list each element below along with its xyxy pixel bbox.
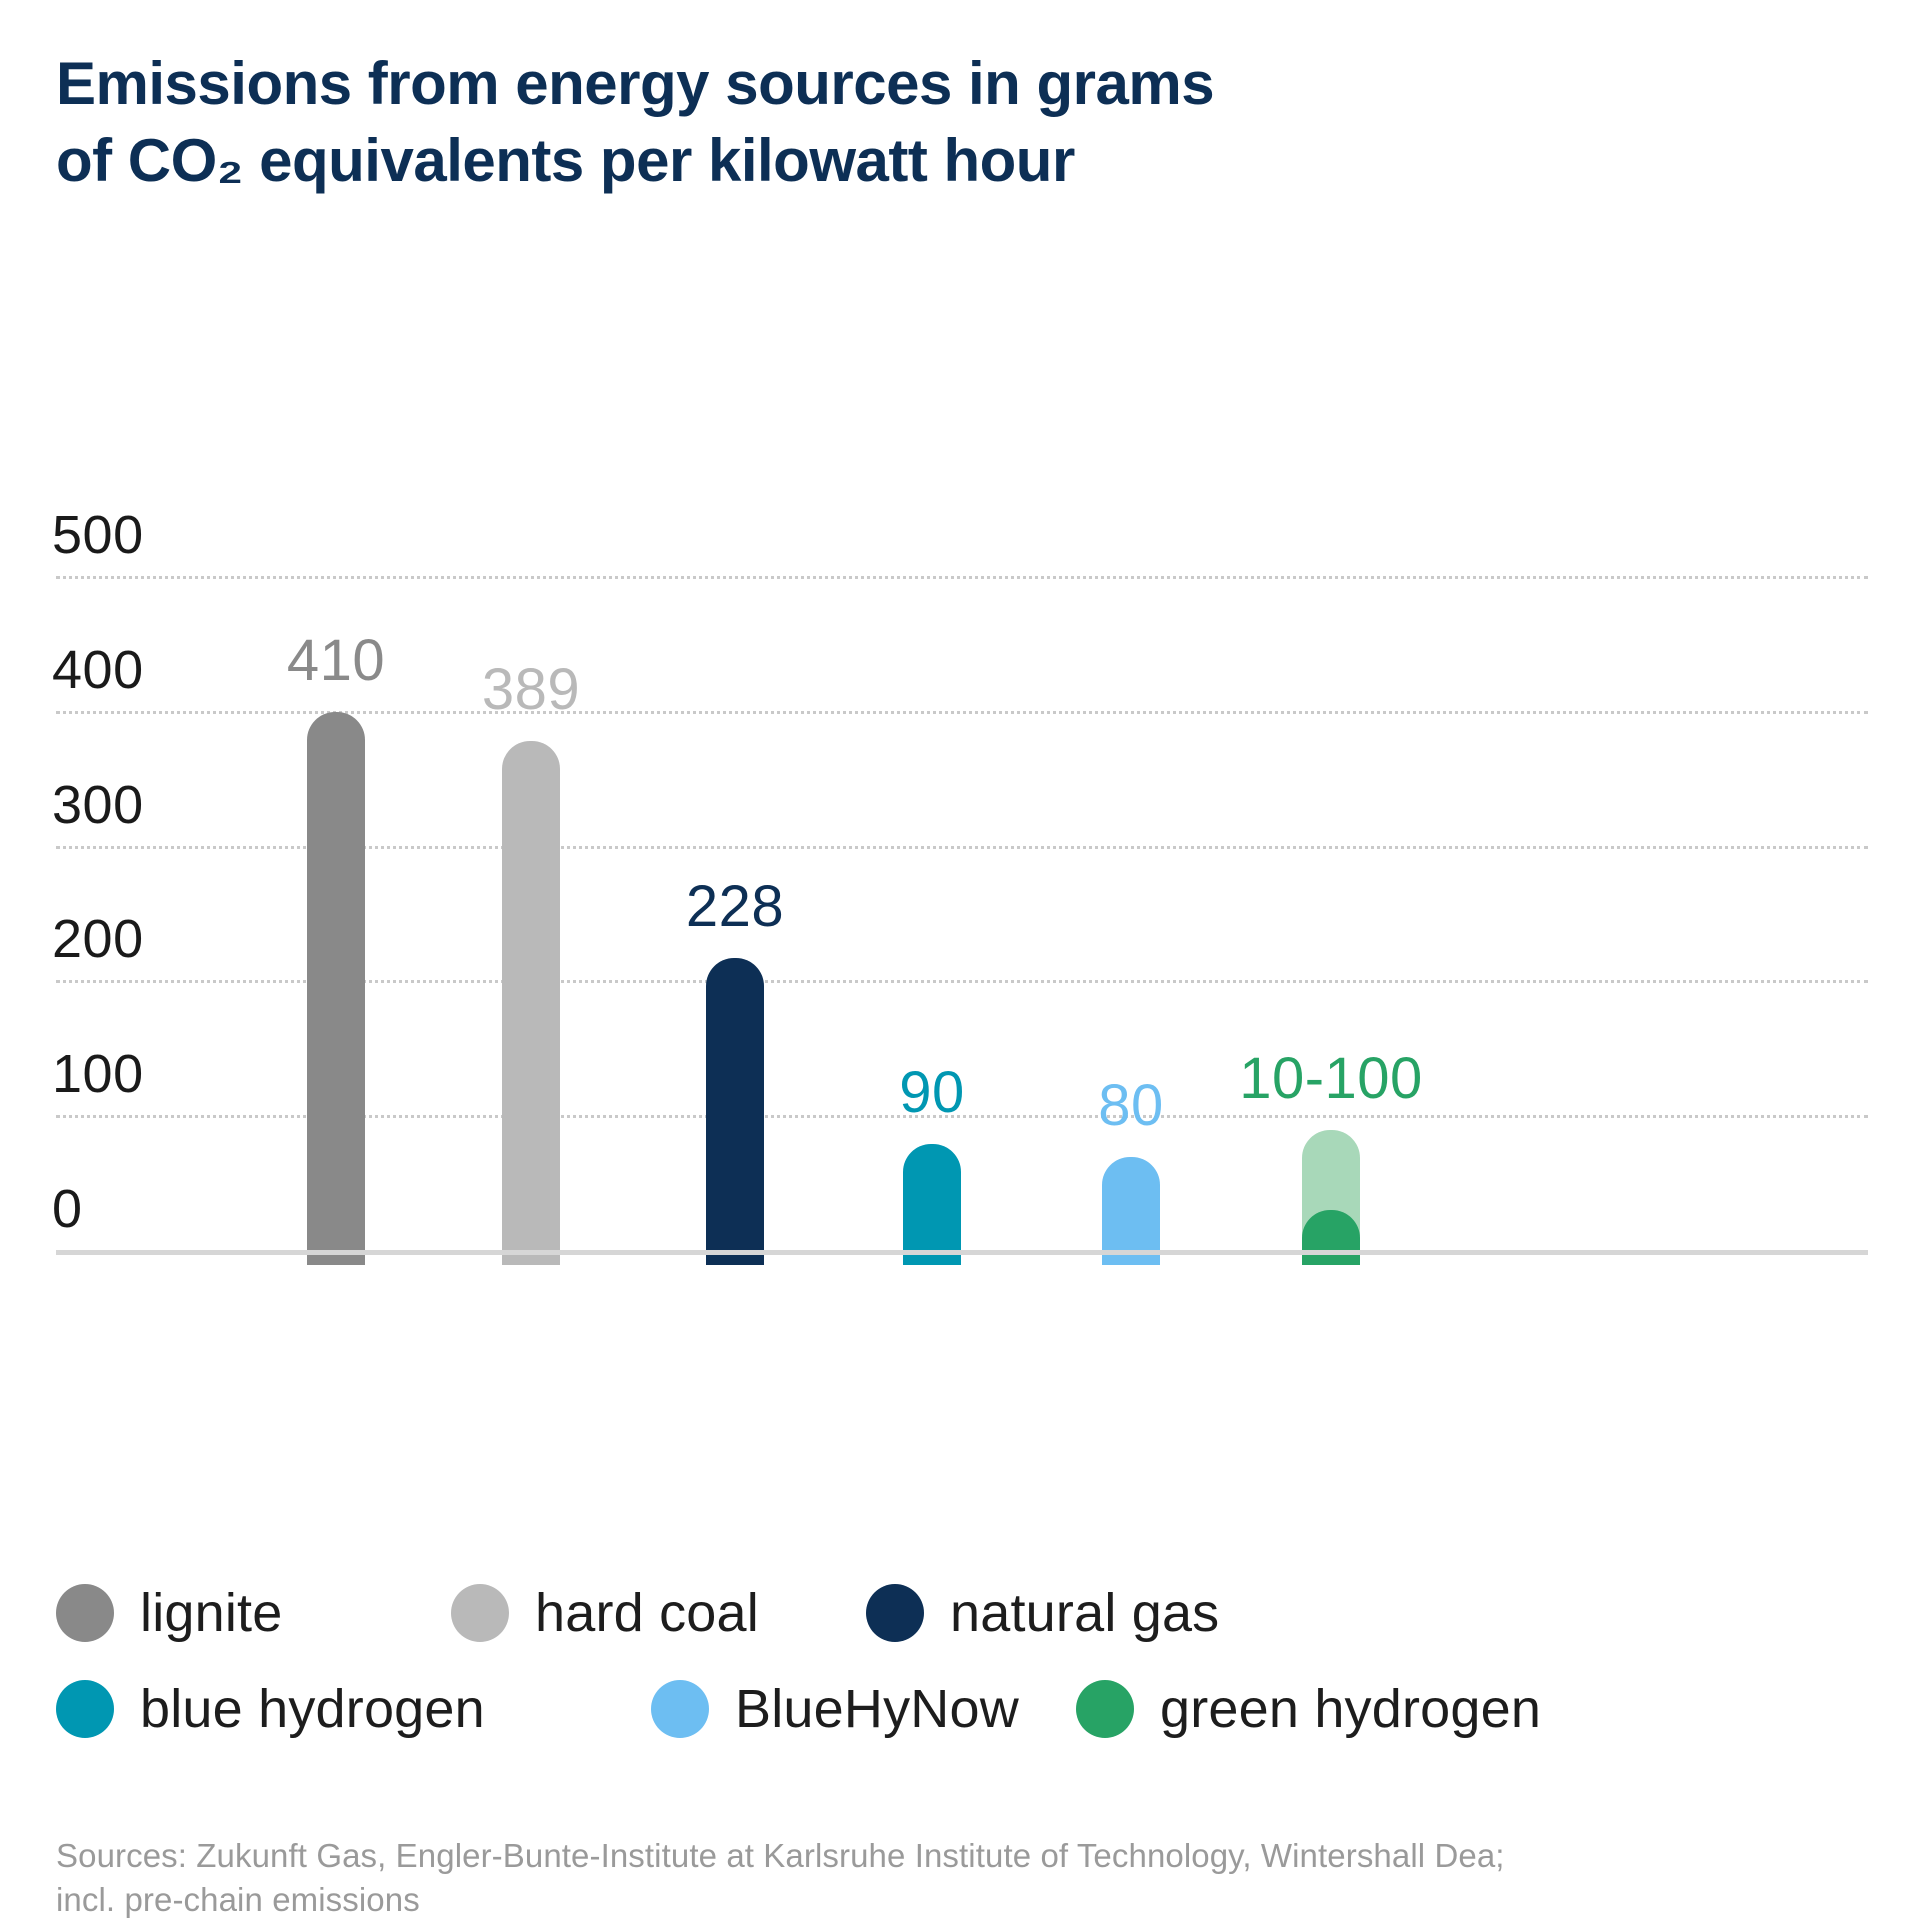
bar-value-label-lignite: 410	[287, 632, 385, 690]
bar-group-natural-gas[interactable]: 228	[706, 262, 764, 1265]
legend-swatch-icon	[451, 1584, 509, 1642]
y-tick-label-200: 200	[52, 912, 144, 980]
chart-page: Emissions from energy sources in grams o…	[0, 0, 1920, 1920]
bar-group-green-hydrogen[interactable]: 10-100	[1302, 262, 1360, 1265]
y-tick-label-0: 0	[52, 1182, 83, 1250]
plot-area: 5004003002001000 410389228908010-100	[0, 255, 1920, 1265]
bar-value-label-green-hydrogen: 10-100	[1239, 1050, 1423, 1108]
legend-item-lignite[interactable]: lignite	[56, 1584, 451, 1642]
legend-swatch-icon	[56, 1584, 114, 1642]
bar-natural-gas[interactable]	[706, 958, 764, 1265]
bar-lignite[interactable]	[307, 712, 365, 1265]
legend-item-natural-gas[interactable]: natural gas	[866, 1584, 1219, 1642]
bar-low-green-hydrogen[interactable]	[1302, 1210, 1360, 1265]
y-tick-label-100: 100	[52, 1047, 144, 1115]
legend-label: BlueHyNow	[735, 1682, 1019, 1736]
legend-swatch-icon	[1076, 1680, 1134, 1738]
legend-label: hard coal	[535, 1586, 759, 1640]
legend-item-hard-coal[interactable]: hard coal	[451, 1584, 866, 1642]
legend-item-green-hydrogen[interactable]: green hydrogen	[1076, 1680, 1541, 1738]
bar-value-label-hard-coal: 389	[482, 661, 580, 719]
y-tick-label-400: 400	[52, 643, 144, 711]
legend-swatch-icon	[651, 1680, 709, 1738]
legend-label: natural gas	[950, 1586, 1219, 1640]
bar-blue-hydrogen[interactable]	[903, 1144, 961, 1265]
bar-group-BlueHyNow[interactable]: 80	[1102, 262, 1160, 1265]
y-tick-label-300: 300	[52, 778, 144, 846]
legend-row: lignitehard coalnatural gas	[56, 1565, 1876, 1661]
bar-BlueHyNow[interactable]	[1102, 1157, 1160, 1265]
legend-swatch-icon	[56, 1680, 114, 1738]
y-tick-label-500: 500	[52, 508, 144, 576]
legend-item-bluehynow[interactable]: BlueHyNow	[651, 1680, 1076, 1738]
legend-item-blue-hydrogen[interactable]: blue hydrogen	[56, 1680, 651, 1738]
bar-group-blue-hydrogen[interactable]: 90	[903, 262, 961, 1265]
legend-label: lignite	[140, 1586, 283, 1640]
x-axis-baseline	[56, 1250, 1868, 1255]
legend-label: blue hydrogen	[140, 1682, 485, 1736]
bar-value-label-blue-hydrogen: 90	[899, 1064, 965, 1122]
source-note: Sources: Zukunft Gas, Engler-Bunte-Insti…	[56, 1834, 1866, 1920]
legend: lignitehard coalnatural gas blue hydroge…	[56, 1565, 1876, 1757]
bar-hard-coal[interactable]	[502, 741, 560, 1265]
legend-label: green hydrogen	[1160, 1682, 1541, 1736]
bar-group-lignite[interactable]: 410	[307, 262, 365, 1265]
legend-row: blue hydrogenBlueHyNowgreen hydrogen	[56, 1661, 1876, 1757]
legend-swatch-icon	[866, 1584, 924, 1642]
bar-group-hard-coal[interactable]: 389	[502, 262, 560, 1265]
bar-value-label-BlueHyNow: 80	[1098, 1077, 1164, 1135]
bar-value-label-natural-gas: 228	[686, 878, 784, 936]
page-title: Emissions from energy sources in grams o…	[56, 46, 1756, 200]
